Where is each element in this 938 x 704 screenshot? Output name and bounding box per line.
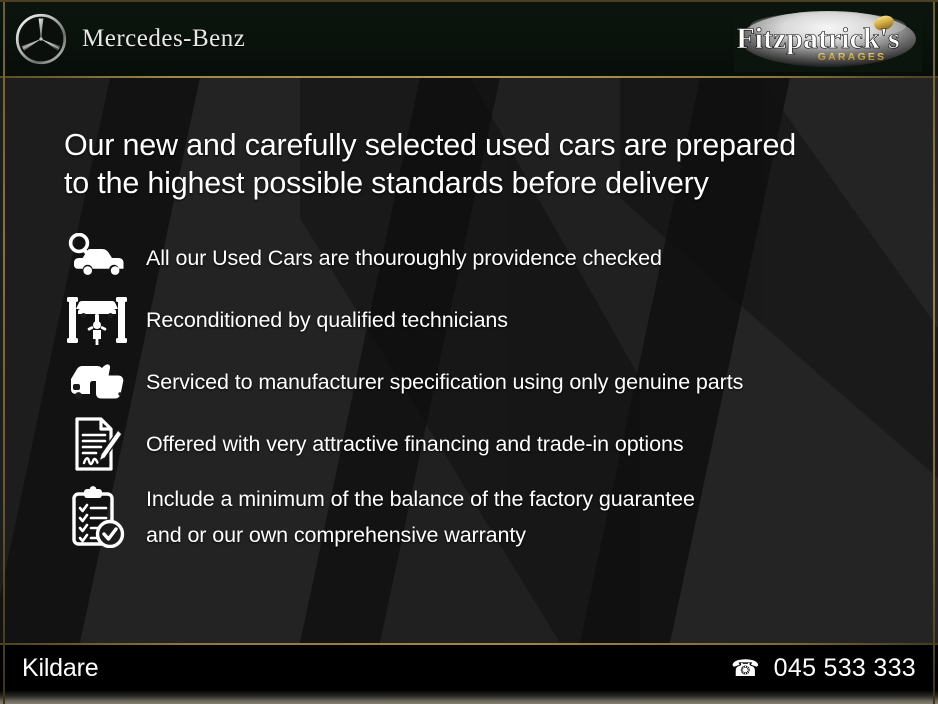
promo-slide: Mercedes-Benz bbox=[0, 0, 938, 704]
page-title: Our new and carefully selected used cars… bbox=[64, 126, 864, 202]
car-thumbs-up-icon bbox=[58, 353, 136, 411]
list-item: Offered with very attractive financing a… bbox=[58, 414, 898, 474]
clipboard-checklist-verified-icon bbox=[58, 477, 136, 557]
header-gold-divider bbox=[0, 76, 938, 78]
list-item: Reconditioned by qualified technicians bbox=[58, 290, 898, 350]
list-item-text: Offered with very attractive financing a… bbox=[136, 426, 683, 462]
list-item-text: Reconditioned by qualified technicians bbox=[136, 302, 508, 338]
list-item: Serviced to manufacturer specification u… bbox=[58, 352, 898, 412]
header-bar: Mercedes-Benz bbox=[0, 0, 938, 78]
phone-number: 045 533 333 bbox=[774, 654, 916, 683]
frame-right-edge bbox=[933, 0, 935, 704]
dealer-logo-subtitle: GARAGES bbox=[818, 51, 887, 63]
telephone-icon: ☎ bbox=[731, 657, 760, 680]
bottom-edge-glow bbox=[0, 690, 938, 704]
contact-phone[interactable]: ☎ 045 533 333 bbox=[731, 654, 916, 683]
car-inspection-magnifier-icon bbox=[58, 229, 136, 287]
list-item-text: Serviced to manufacturer specification u… bbox=[136, 364, 743, 400]
document-signature-pen-icon bbox=[58, 415, 136, 473]
main-stage: Our new and carefully selected used cars… bbox=[0, 78, 938, 643]
list-item: All our Used Cars are thouroughly provid… bbox=[58, 228, 898, 288]
car-lift-technician-icon bbox=[58, 291, 136, 349]
list-item: Include a minimum of the balance of the … bbox=[58, 476, 898, 558]
list-item-text: All our Used Cars are thouroughly provid… bbox=[136, 240, 662, 276]
list-item-text: Include a minimum of the balance of the … bbox=[136, 481, 695, 553]
brand-lockup: Mercedes-Benz bbox=[14, 12, 245, 66]
benefits-list: All our Used Cars are thouroughly provid… bbox=[58, 228, 898, 560]
dealer-logo-fitzpatricks[interactable]: Fitzpatrick's GARAGES bbox=[734, 6, 922, 72]
frame-top-edge bbox=[0, 0, 938, 2]
brand-name: Mercedes-Benz bbox=[82, 25, 245, 53]
headline-line-1: Our new and carefully selected used cars… bbox=[64, 126, 864, 164]
mercedes-star-icon bbox=[14, 12, 68, 66]
headline-line-2: to the highest possible standards before… bbox=[64, 164, 864, 202]
branch-location: Kildare bbox=[22, 654, 98, 683]
footer-bar: Kildare ☎ 045 533 333 bbox=[0, 643, 938, 704]
frame-left-edge bbox=[3, 0, 5, 704]
